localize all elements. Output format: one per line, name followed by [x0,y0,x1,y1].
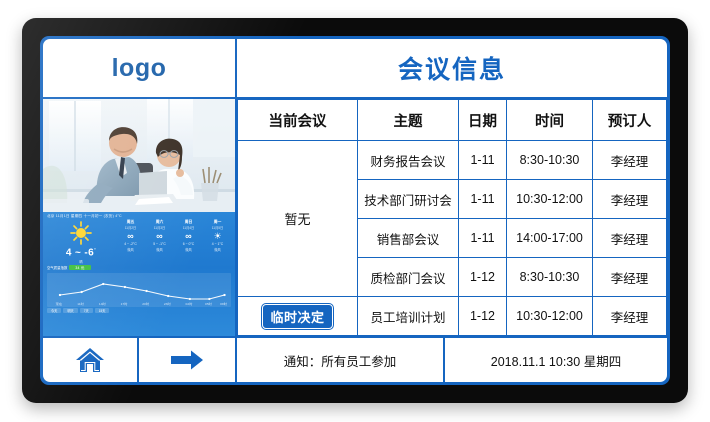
cell-time: 14:00-17:00 [507,219,593,258]
cell-owner: 李经理 [593,219,667,258]
svg-text:现在: 现在 [56,301,62,306]
aqi-badge: 34 优 [69,265,90,270]
weather-desc: 晴 [46,259,116,264]
weather-tab[interactable]: 15天 [95,308,110,313]
top-band: logo 会议信息 [43,39,667,99]
page-title: 会议信息 [398,50,506,86]
temp-decision-button[interactable]: 临时决定 [262,304,332,329]
weather-tab[interactable]: 7天 [80,308,93,313]
forecast-wind: 微风 [203,248,232,253]
svg-text:08时: 08时 [220,301,227,306]
home-button[interactable] [43,338,139,382]
weather-forecast-list: 周五 11月2日 ∞ 4 ~ -2°C 微风 周六 11月3日 ∞ [116,220,232,264]
cell-owner: 李经理 [593,297,667,336]
aqi-label: 空气质量指数 [47,265,67,270]
logo-cell[interactable]: logo [43,39,237,97]
cell-topic: 员工培训计划 [358,297,459,336]
sun-icon [64,221,98,245]
column-header-date: 日期 [459,100,507,141]
weather-tab[interactable]: 明天 [63,308,77,313]
weather-trend-chart: 现在11时 14时17时 20时23时 02时05时 08时 [47,273,231,307]
degree-symbol: ° [94,247,96,252]
forecast-wind: 微风 [174,248,203,253]
svg-text:20时: 20时 [142,301,149,306]
notice-cell: 通知：所有员工参加 [237,338,445,382]
forecast-day[interactable]: 周六 11月3日 ∞ 5 ~ -1°C 微风 [145,220,174,264]
cell-date: 1-11 [459,141,507,180]
current-meeting-cell: 暂无 [238,141,358,297]
weather-trend-line: 现在11时 14时17时 20时23时 02时05时 08时 [47,273,231,307]
cell-time: 8:30-10:30 [507,141,593,180]
office-photo-illustration [43,99,235,212]
column-header-topic: 主题 [358,100,459,141]
weather-main: 4 ~ -6° 晴 周五 11月2日 ∞ 4 ~ -2°C [43,220,235,264]
forecast-wind: 微风 [145,248,174,253]
temp-decision-cell[interactable]: 临时决定 [238,297,358,336]
weather-widget[interactable]: 北京 11月1日 星期四 十一月初一 (农历) 4°C [43,212,235,336]
cell-date: 1-12 [459,297,507,336]
table-row: 暂无 财务报告会议 1-11 8:30-10:30 李经理 [238,141,667,180]
next-button[interactable] [139,338,237,382]
column-header-current: 当前会议 [238,100,358,141]
title-cell: 会议信息 [237,39,667,97]
cell-date: 1-11 [459,180,507,219]
svg-text:02时: 02时 [186,301,193,306]
table-header-row: 当前会议 主题 日期 时间 预订人 [238,100,667,141]
table-row: 临时决定 员工培训计划 1-12 10:30-12:00 李经理 [238,297,667,336]
svg-text:11时: 11时 [77,301,84,306]
weather-headline: 北京 11月1日 星期四 十一月初一 (农历) 4°C [43,212,235,220]
datetime-text: 2018.11.1 10:30 星期四 [491,351,621,370]
forecast-weather-icon: ∞ [174,230,203,242]
home-icon [75,347,105,373]
forecast-day-date: 11月3日 [145,226,174,231]
cell-owner: 李经理 [593,141,667,180]
display-device: logo 会议信息 [22,18,688,403]
cell-topic: 技术部门研讨会 [358,180,459,219]
meeting-table: 当前会议 主题 日期 时间 预订人 暂无 财务报告会议 1-11 [237,99,667,336]
column-header-owner: 预订人 [593,100,667,141]
forecast-day[interactable]: 周五 11月2日 ∞ 4 ~ -2°C 微风 [116,220,145,264]
forecast-weather-icon: ∞ [145,230,174,242]
svg-text:17时: 17时 [121,301,128,306]
forecast-wind: 微风 [116,248,145,253]
middle-region: 北京 11月1日 星期四 十一月初一 (农历) 4°C [43,99,667,336]
forecast-day[interactable]: 周一 11月5日 ☀ 4 ~ 1°C 微风 [203,220,232,264]
air-quality-row: 空气质量指数 34 优 [43,264,235,272]
weather-temperature: 4 ~ -6° [46,247,116,258]
svg-text:14时: 14时 [99,301,106,306]
cell-time: 10:30-12:00 [507,297,593,336]
screen-frame: logo 会议信息 [40,36,670,385]
cell-topic: 质检部门会议 [358,258,459,297]
weather-today: 4 ~ -6° 晴 [46,220,116,264]
notice-text: 通知：所有员工参加 [284,351,397,370]
svg-text:23时: 23时 [164,301,171,306]
arrow-right-icon [169,349,205,371]
weather-tab[interactable]: 今天 [47,308,61,313]
cell-owner: 李经理 [593,180,667,219]
forecast-day-date: 11月2日 [116,226,145,231]
bottom-band: 通知：所有员工参加 2018.11.1 10:30 星期四 [43,336,667,382]
column-header-time: 时间 [507,100,593,141]
forecast-day[interactable]: 周日 11月4日 ∞ 6 ~ 0°C 微风 [174,220,203,264]
left-column: 北京 11月1日 星期四 十一月初一 (农历) 4°C [43,99,237,336]
cell-topic: 财务报告会议 [358,141,459,180]
cell-topic: 销售部会议 [358,219,459,258]
datetime-cell: 2018.11.1 10:30 星期四 [445,338,667,382]
forecast-weather-icon: ☀ [203,230,232,242]
office-photo [43,99,235,212]
meeting-info-panel: logo 会议信息 [43,39,667,382]
forecast-weather-icon: ∞ [116,230,145,242]
cell-date: 1-12 [459,258,507,297]
cell-time: 10:30-12:00 [507,180,593,219]
svg-text:05时: 05时 [205,301,212,306]
cell-owner: 李经理 [593,258,667,297]
weather-tabs[interactable]: 今天 明天 7天 15天 [43,307,235,315]
meeting-table-wrap: 当前会议 主题 日期 时间 预订人 暂无 财务报告会议 1-11 [237,99,667,336]
cell-time: 8:30-10:30 [507,258,593,297]
forecast-day-date: 11月5日 [203,226,232,231]
logo-text: logo [112,54,167,83]
cell-date: 1-11 [459,219,507,258]
forecast-day-date: 11月4日 [174,226,203,231]
